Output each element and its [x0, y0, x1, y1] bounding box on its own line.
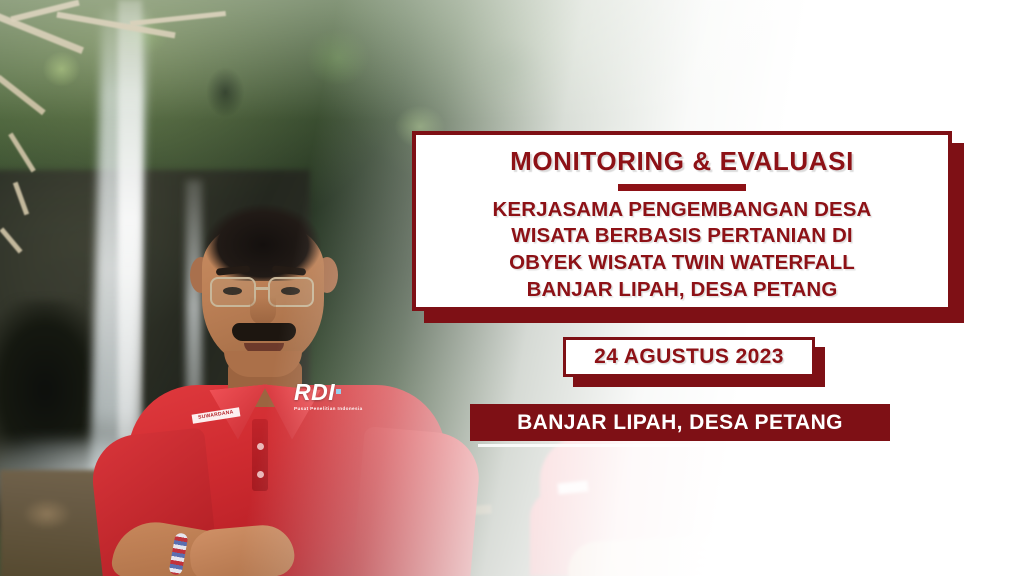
- shirt-logo-dot: [336, 389, 341, 394]
- title-divider: [618, 184, 746, 191]
- poster-canvas: RDI Pusat Penelitian Indonesia SUWARDANA…: [0, 0, 1024, 576]
- mustache: [232, 323, 296, 341]
- polo-button: [257, 443, 264, 450]
- title-panel: MONITORING & EVALUASI KERJASAMA PENGEMBA…: [412, 131, 952, 311]
- poster-subtitle: KERJASAMA PENGEMBANGAN DESA WISATA BERBA…: [493, 197, 872, 304]
- poster-title: MONITORING & EVALUASI: [510, 147, 854, 176]
- subtitle-line: KERJASAMA PENGEMBANGAN DESA: [493, 197, 872, 224]
- shirt-logo-subtext: Pusat Penelitian Indonesia: [294, 407, 362, 412]
- location-banner: BANJAR LIPAH, DESA PETANG: [470, 404, 890, 441]
- polo-button: [257, 471, 264, 478]
- subtitle-line: OBYEK WISATA TWIN WATERFALL: [493, 250, 872, 277]
- nose: [250, 297, 276, 325]
- date-text: 24 AGUSTUS 2023: [594, 345, 784, 369]
- location-underline: [478, 444, 878, 447]
- polo-placket: [252, 419, 268, 491]
- eyeglasses-bridge: [255, 287, 269, 290]
- date-badge: 24 AGUSTUS 2023: [563, 337, 815, 377]
- polo-shirt-right-sleeve: [351, 426, 482, 576]
- subtitle-line: BANJAR LIPAH, DESA PETANG: [493, 277, 872, 304]
- foreground-person: RDI Pusat Penelitian Indonesia SUWARDANA: [120, 195, 460, 576]
- shirt-logo: RDI Pusat Penelitian Indonesia: [294, 381, 362, 421]
- shirt-logo-mark: RDI: [294, 379, 335, 405]
- subtitle-line: WISATA BERBASIS PERTANIAN DI: [493, 223, 872, 250]
- location-text: BANJAR LIPAH, DESA PETANG: [517, 411, 843, 435]
